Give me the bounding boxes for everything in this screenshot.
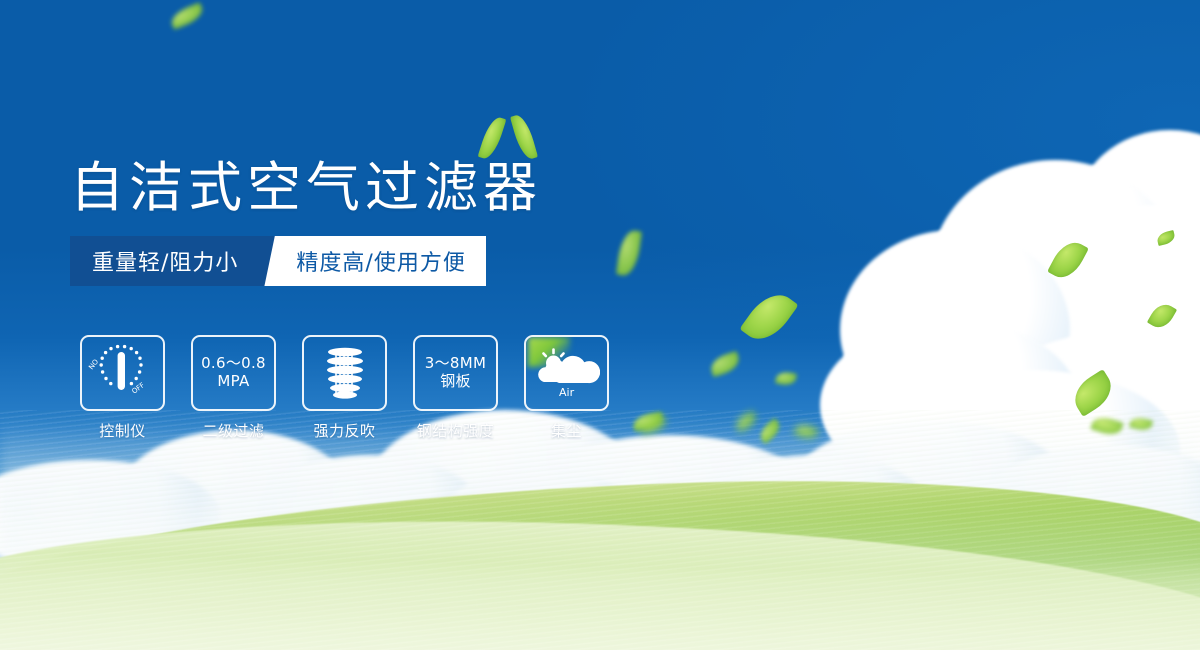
subtitle-bar: 重量轻/阻力小 精度高/使用方便 <box>70 236 486 286</box>
feature-icon-box: NO OFF <box>80 335 165 411</box>
cloud-air-label: Air <box>559 386 575 399</box>
subtitle-left: 重量轻/阻力小 <box>70 236 264 286</box>
feature-label: 集尘 <box>551 420 582 441</box>
feature-label: 控制仪 <box>99 420 146 441</box>
gauge-left-label: NO <box>88 357 100 371</box>
pressure-unit: MPA <box>217 373 249 391</box>
feature-item-steel-strength[interactable]: 3～8MM 钢板 钢结构强度 <box>413 335 498 441</box>
feature-list: NO OFF 控制仪 0.6～0.8 MPA 二级过滤 <box>80 335 609 441</box>
feature-icon-box: Air <box>524 335 609 411</box>
feature-item-control-meter[interactable]: NO OFF 控制仪 <box>80 335 165 441</box>
filter-coil-icon <box>318 344 372 402</box>
feature-label: 强力反吹 <box>313 420 375 441</box>
cloud-air-icon: Air <box>534 347 600 399</box>
page-title: 自洁式空气过滤器 <box>70 143 542 222</box>
subtitle-divider <box>264 236 290 286</box>
feature-icon-box <box>302 335 387 411</box>
steel-material: 钢板 <box>440 373 471 391</box>
feature-icon-box: 0.6～0.8 MPA <box>191 335 276 411</box>
feature-item-two-stage-filter[interactable]: 0.6～0.8 MPA 二级过滤 <box>191 335 276 441</box>
steel-thickness: 3～8MM <box>425 355 486 373</box>
feature-label: 二级过滤 <box>202 420 264 441</box>
feature-item-strong-backblow[interactable]: 强力反吹 <box>302 335 387 441</box>
grass-field <box>0 410 1200 650</box>
gauge-dial-icon: NO OFF <box>88 342 158 404</box>
feature-item-dust-collection[interactable]: Air 集尘 <box>524 335 609 441</box>
feature-icon-box: 3～8MM 钢板 <box>413 335 498 411</box>
feature-label: 钢结构强度 <box>417 420 495 441</box>
pressure-value: 0.6～0.8 <box>201 355 266 373</box>
subtitle-right: 精度高/使用方便 <box>290 236 485 286</box>
hero-banner: 自洁式空气过滤器 重量轻/阻力小 精度高/使用方便 <box>0 0 1200 650</box>
